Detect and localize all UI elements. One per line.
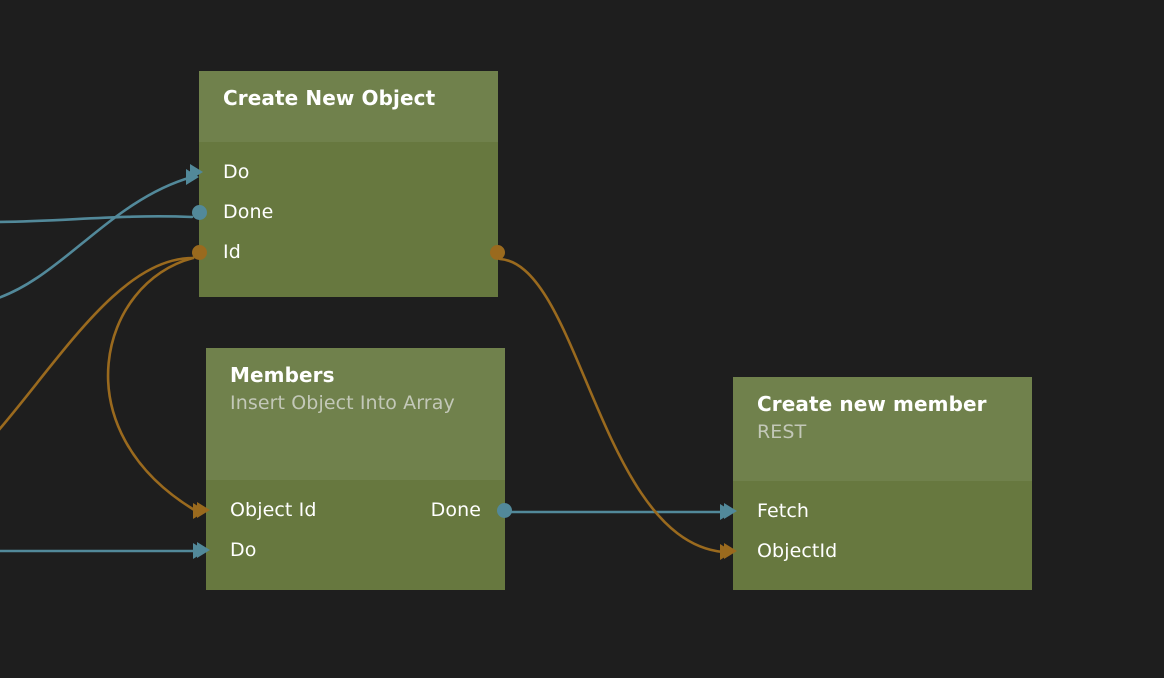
- port-label-done: Done: [223, 200, 273, 224]
- port-label-objectid: ObjectId: [757, 539, 837, 563]
- port-row-do[interactable]: Do: [206, 530, 505, 570]
- node-header[interactable]: Create New Object: [199, 71, 498, 142]
- port-label-id: Id: [223, 240, 241, 264]
- node-header[interactable]: Members Insert Object Into Array: [206, 348, 505, 480]
- node-title: Create new member: [757, 391, 1008, 417]
- port-label-do: Do: [230, 538, 256, 562]
- port-row-fetch[interactable]: Fetch: [733, 491, 1032, 531]
- data-input-port-icon[interactable]: [197, 502, 210, 518]
- data-output-port-dot-icon[interactable]: [490, 245, 505, 260]
- node-members[interactable]: Members Insert Object Into Array Object …: [206, 348, 505, 590]
- node-subtitle: REST: [757, 417, 1008, 447]
- data-input-port-icon[interactable]: [724, 543, 737, 559]
- exec-input-port-icon[interactable]: [190, 164, 203, 180]
- node-title: Members: [230, 362, 481, 388]
- node-title: Create New Object: [223, 85, 474, 111]
- edge-edge-create-done-to-offscreen[interactable]: [0, 216, 192, 222]
- port-label-fetch: Fetch: [757, 499, 809, 523]
- node-graph-canvas[interactable]: Create New Object Do Done Id Members I: [0, 0, 1164, 678]
- port-row-object-id[interactable]: Object Id Done: [206, 490, 505, 530]
- port-row-done[interactable]: Done: [199, 192, 498, 232]
- exec-input-port-icon[interactable]: [724, 503, 737, 519]
- node-create-new-object[interactable]: Create New Object Do Done Id: [199, 71, 498, 297]
- node-subtitle: Insert Object Into Array: [230, 388, 481, 418]
- port-row-objectid[interactable]: ObjectId: [733, 531, 1032, 571]
- node-body: Object Id Done Do: [206, 480, 505, 570]
- port-label-object-id: Object Id: [230, 498, 316, 522]
- port-row-id[interactable]: Id: [199, 232, 498, 272]
- exec-input-port-icon[interactable]: [197, 542, 210, 558]
- exec-output-port-dot-icon[interactable]: [497, 503, 512, 518]
- data-port-dot-icon[interactable]: [192, 245, 207, 260]
- port-label-done-output: Done: [431, 498, 505, 522]
- node-body: Fetch ObjectId: [733, 481, 1032, 571]
- node-create-new-member[interactable]: Create new member REST Fetch ObjectId: [733, 377, 1032, 590]
- edge-edge-offscreen-to-create-do[interactable]: [0, 177, 192, 300]
- node-body: Do Done Id: [199, 142, 498, 272]
- edge-edge-create-id-to-offscreen[interactable]: [0, 258, 193, 438]
- edge-edge-create-out-to-objectid[interactable]: [500, 259, 723, 552]
- edge-edge-create-id-to-members-objectid[interactable]: [108, 258, 196, 511]
- port-label-do: Do: [223, 160, 249, 184]
- node-header[interactable]: Create new member REST: [733, 377, 1032, 481]
- exec-port-dot-icon[interactable]: [192, 205, 207, 220]
- port-row-do[interactable]: Do: [199, 152, 498, 192]
